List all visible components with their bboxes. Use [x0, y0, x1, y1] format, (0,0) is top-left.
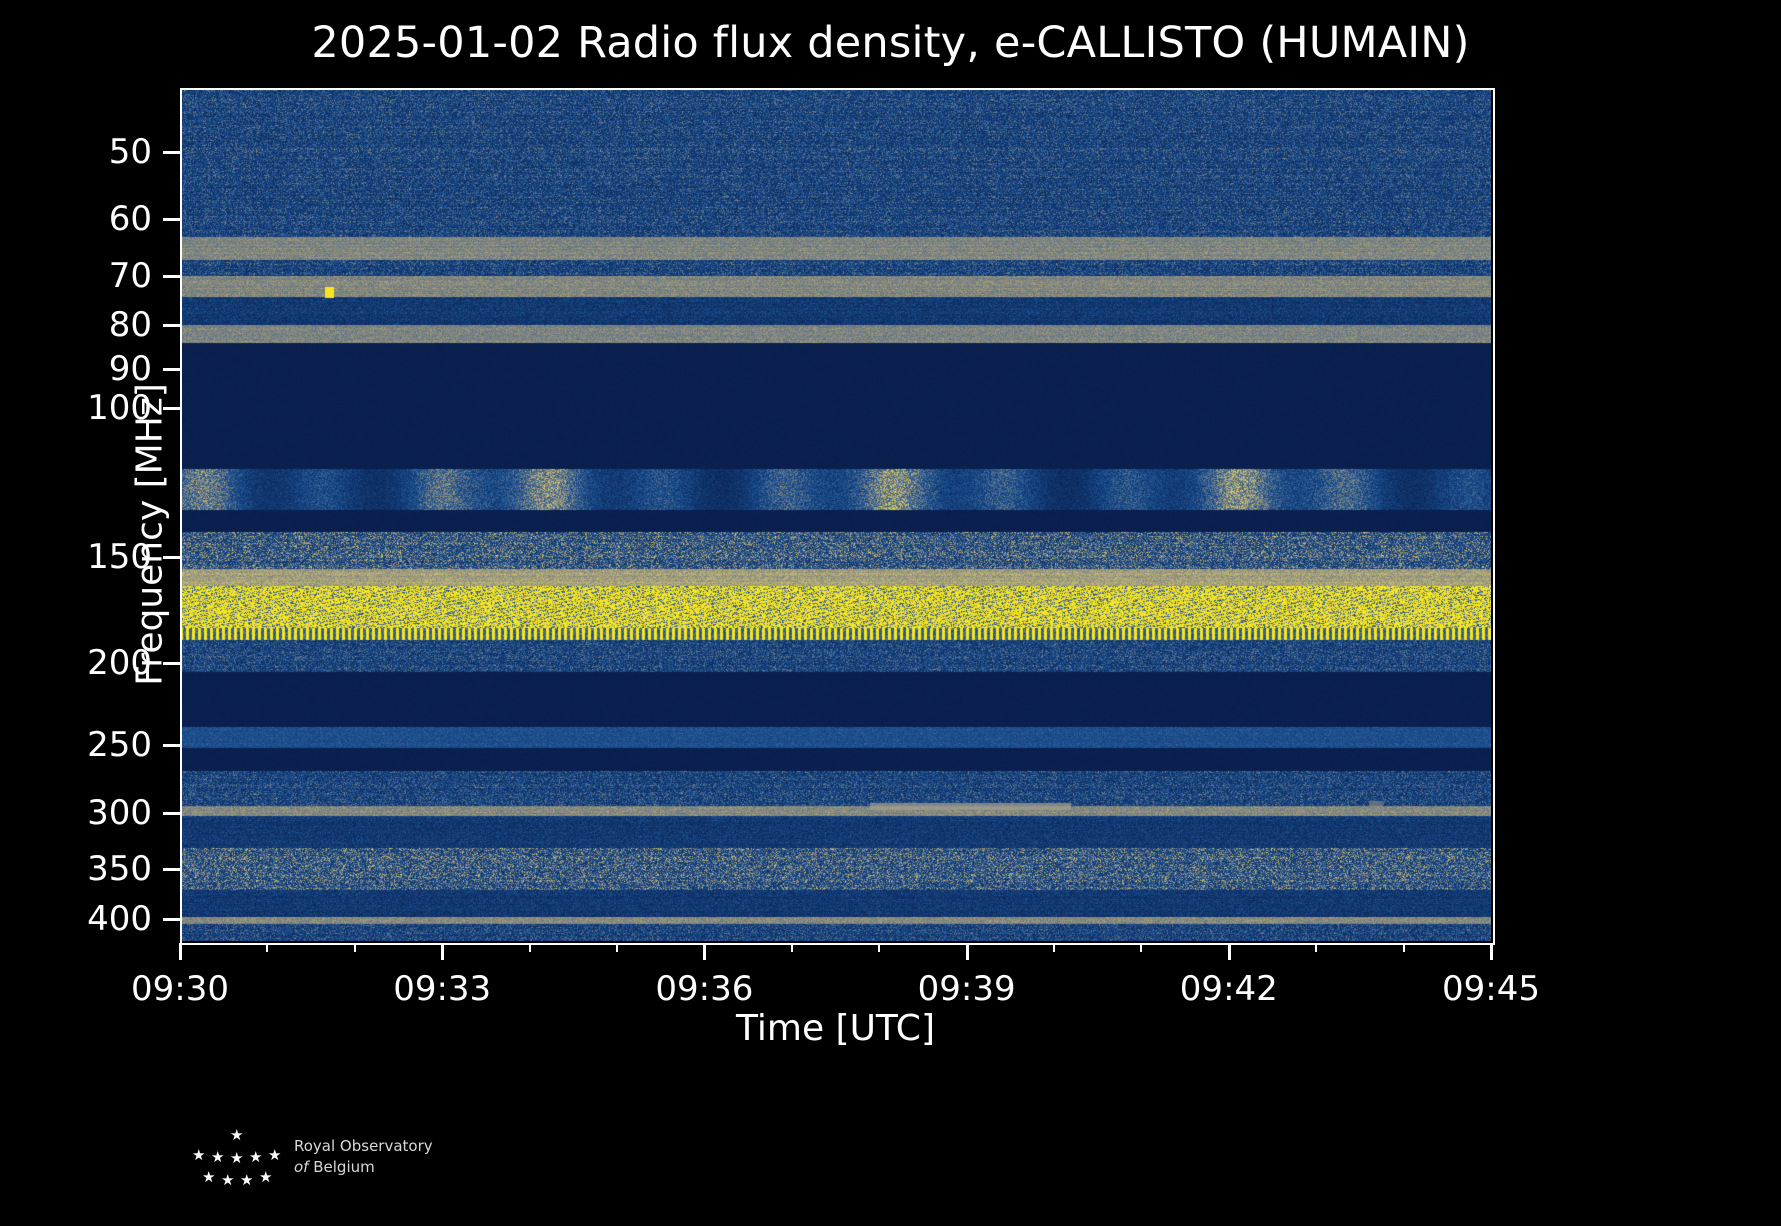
star-icon: ★	[192, 1148, 205, 1163]
logo-belgium: Belgium	[313, 1158, 375, 1176]
spectrogram-canvas	[180, 88, 1491, 941]
y-tick-label: 60	[0, 199, 152, 239]
stars-icon: ★★★★★★★★★★	[178, 1128, 288, 1198]
star-icon: ★	[202, 1170, 215, 1185]
x-tick-mark	[179, 943, 182, 960]
x-minor-tick	[529, 943, 531, 952]
star-icon: ★	[230, 1151, 243, 1166]
x-minor-tick	[791, 943, 793, 952]
x-tick-mark	[703, 943, 706, 960]
y-tick-label: 50	[0, 132, 152, 172]
x-minor-tick	[616, 943, 618, 952]
star-icon: ★	[249, 1150, 262, 1165]
chart-title: 2025-01-02 Radio flux density, e-CALLIST…	[0, 18, 1781, 68]
x-minor-tick	[266, 943, 268, 952]
x-minor-tick	[878, 943, 880, 952]
x-tick-mark	[966, 943, 969, 960]
y-tick-label: 300	[0, 793, 152, 833]
star-icon: ★	[230, 1128, 243, 1143]
y-tick-mark	[163, 275, 180, 278]
x-minor-tick	[1053, 943, 1055, 952]
logo-of: of	[294, 1158, 308, 1176]
y-tick-mark	[163, 218, 180, 221]
x-minor-tick	[1140, 943, 1142, 952]
star-icon: ★	[240, 1173, 253, 1188]
y-tick-mark	[163, 868, 180, 871]
logo-line-1: Royal Observatory	[294, 1136, 433, 1157]
y-tick-label: 400	[0, 899, 152, 939]
x-tick-label: 09:30	[131, 969, 229, 1009]
x-minor-tick	[1315, 943, 1317, 952]
x-tick-label: 09:42	[1180, 969, 1278, 1009]
star-icon: ★	[211, 1150, 224, 1165]
x-tick-mark	[441, 943, 444, 960]
y-tick-mark	[163, 812, 180, 815]
x-tick-label: 09:33	[393, 969, 491, 1009]
star-icon: ★	[259, 1170, 272, 1185]
y-tick-mark	[163, 744, 180, 747]
x-minor-tick	[1403, 943, 1405, 952]
x-tick-label: 09:45	[1442, 969, 1540, 1009]
y-tick-label: 70	[0, 256, 152, 296]
x-tick-mark	[1490, 943, 1493, 960]
x-axis-label: Time [UTC]	[180, 1008, 1491, 1049]
royal-observatory-logo: ★★★★★★★★★★ Royal Observatory of Belgium	[178, 1128, 598, 1200]
x-minor-tick	[354, 943, 356, 952]
y-tick-mark	[163, 918, 180, 921]
x-tick-label: 09:36	[655, 969, 753, 1009]
logo-text: Royal Observatory of Belgium	[294, 1136, 433, 1177]
y-tick-mark	[163, 151, 180, 154]
logo-line-2: of Belgium	[294, 1157, 433, 1178]
star-icon: ★	[221, 1173, 234, 1188]
y-axis-label: Frequency [MHz]	[130, 325, 171, 745]
star-icon: ★	[268, 1148, 281, 1163]
figure: 2025-01-02 Radio flux density, e-CALLIST…	[0, 0, 1781, 1226]
y-tick-label: 350	[0, 849, 152, 889]
x-tick-label: 09:39	[918, 969, 1016, 1009]
x-tick-mark	[1228, 943, 1231, 960]
spectrogram-plot-area[interactable]	[180, 88, 1491, 941]
